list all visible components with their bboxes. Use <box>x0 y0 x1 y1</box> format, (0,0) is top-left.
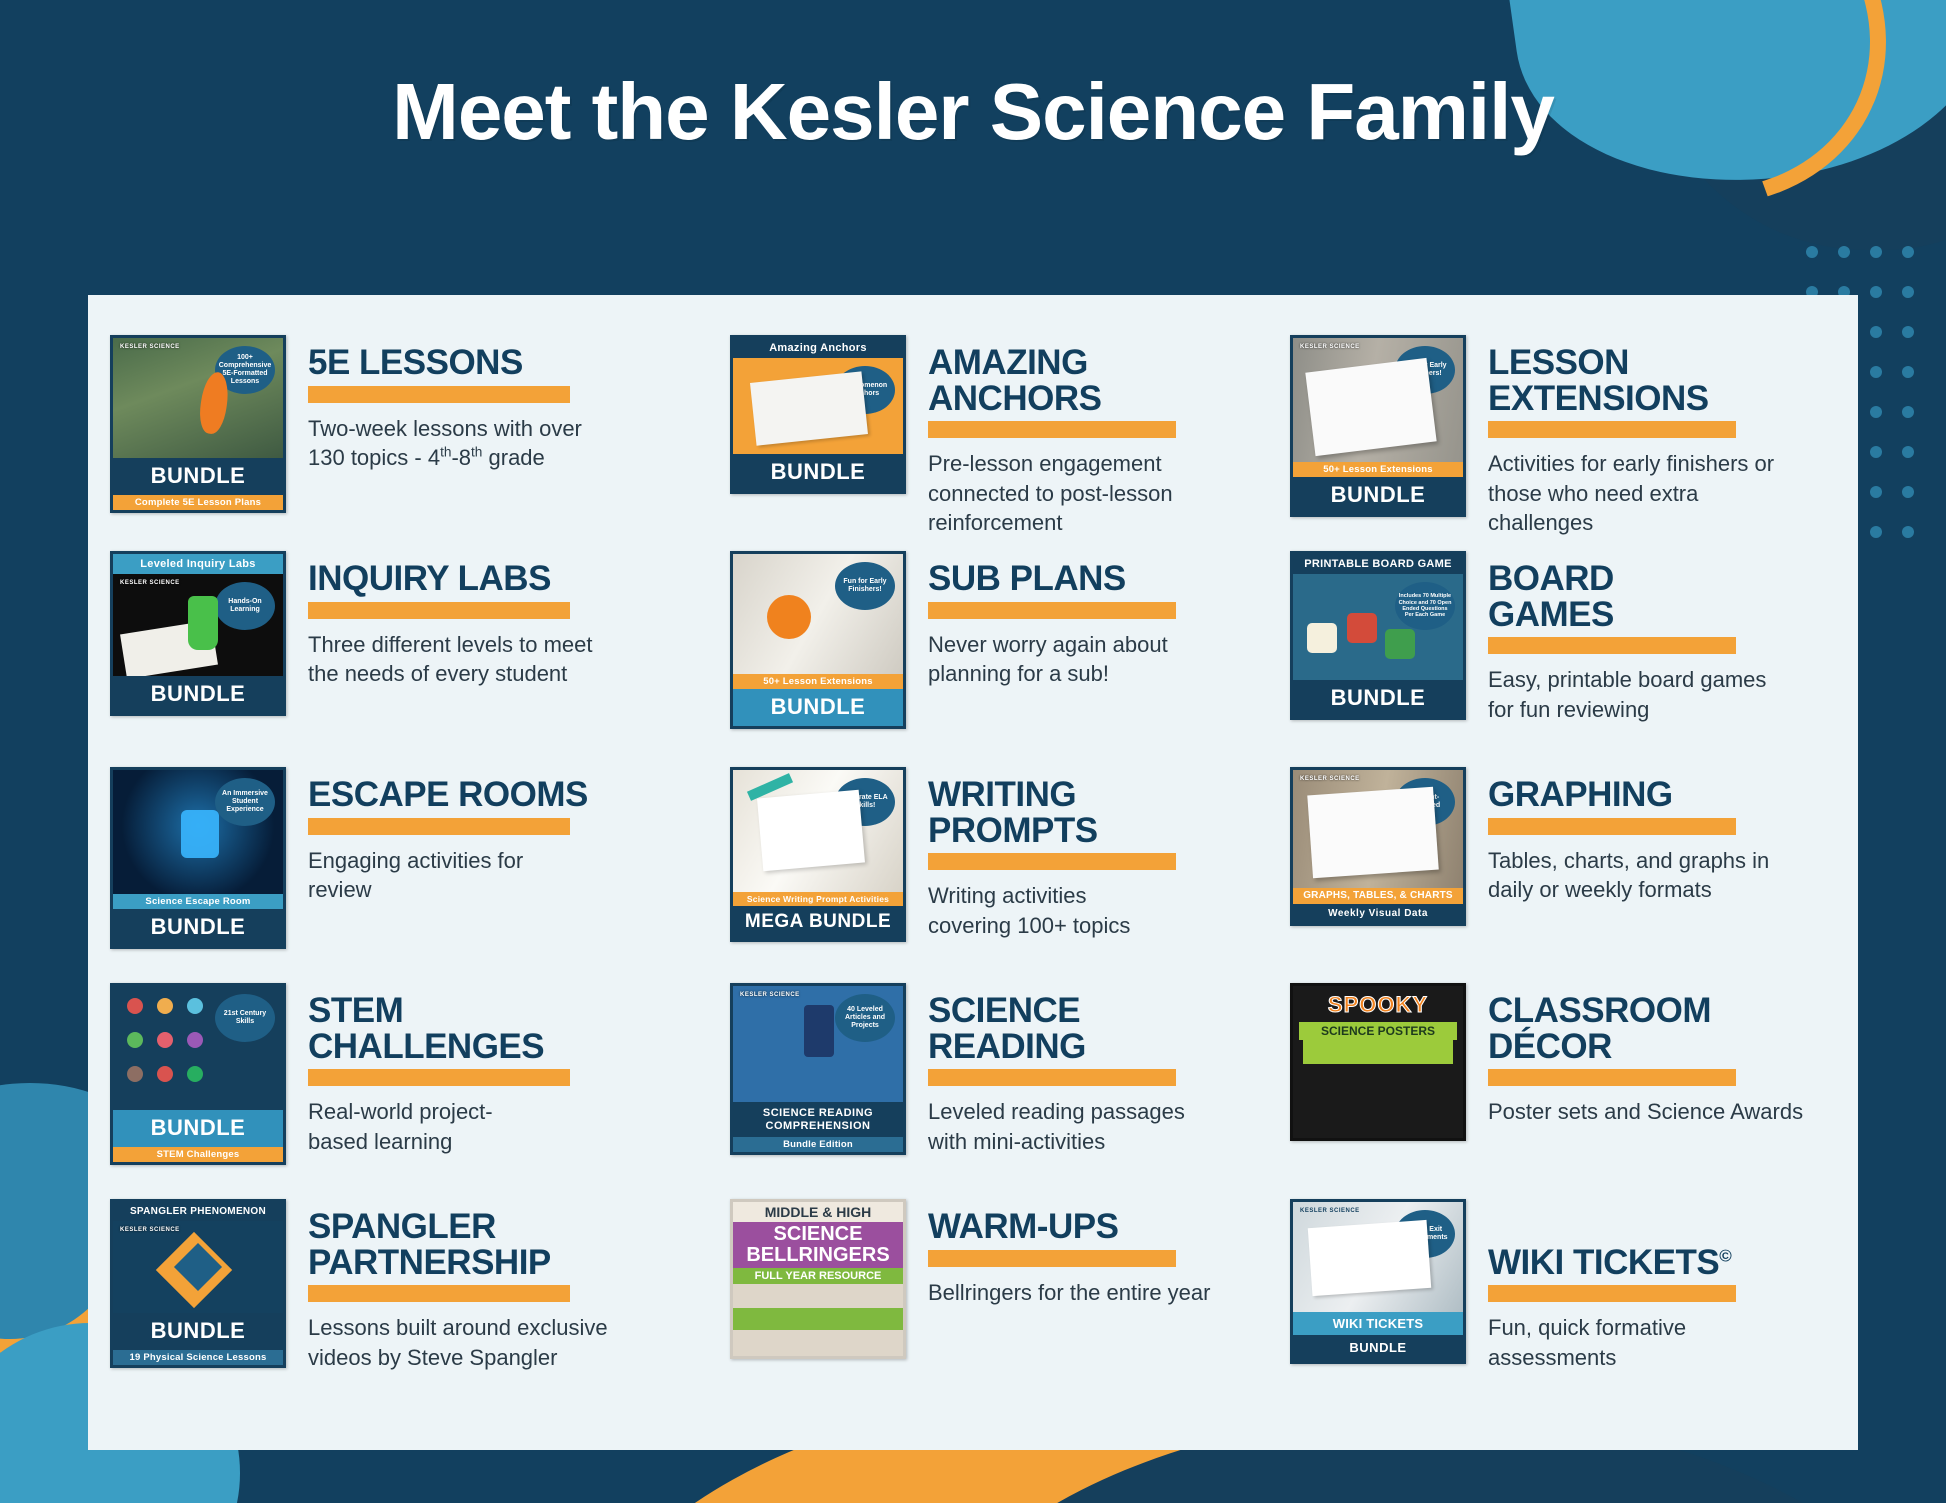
product-thumbnail[interactable]: KESLER SCIENCE 40 Leveled Articles and P… <box>730 983 906 1155</box>
kesler-science-logo-icon: KESLER SCIENCE <box>120 580 180 586</box>
product-info: LESSON EXTENSIONS Activities for early f… <box>1466 335 1850 538</box>
orange-rule <box>1488 1285 1736 1302</box>
kesler-science-logo-icon: KESLER SCIENCE <box>1300 1208 1360 1214</box>
product-card-inquiry-labs[interactable]: Leveled Inquiry Labs KESLER SCIENCE Hand… <box>110 551 730 767</box>
product-title: CLASSROOM DÉCOR <box>1488 993 1850 1064</box>
product-card-science-reading[interactable]: KESLER SCIENCE 40 Leveled Articles and P… <box>730 983 1290 1199</box>
product-description: Activities for early finishers or those … <box>1488 449 1850 537</box>
kesler-science-logo-icon: KESLER SCIENCE <box>120 1227 180 1233</box>
product-thumbnail[interactable]: SPOOKY SCIENCE POSTERS <box>1290 983 1466 1141</box>
product-card-spangler-partnership[interactable]: SPANGLER PHENOMENON KESLER SCIENCE BUNDL… <box>110 1199 730 1415</box>
bundle-label: BUNDLE <box>733 689 903 726</box>
thumbnail-strip: Science Escape Room <box>113 894 283 909</box>
bundle-label: BUNDLE <box>1293 477 1463 514</box>
thumbnail-badge: 21st Century Skills <box>215 994 275 1042</box>
product-title: SPANGLER PARTNERSHIP <box>308 1209 730 1280</box>
thumbnail-strip: SCIENCE POSTERS <box>1299 1022 1457 1040</box>
product-info: 5E LESSONS Two-week lessons with over130… <box>286 335 730 473</box>
bundle-label: BUNDLE <box>113 909 283 946</box>
bundle-label: Weekly Visual Data <box>1293 904 1463 923</box>
spooky-title: SPOOKY <box>1293 992 1463 1018</box>
product-title-text: WIKI TICKETS <box>1488 1243 1719 1282</box>
bundle-label: BUNDLE <box>113 1313 283 1350</box>
thumbnail-badge: Quick Exit Assessments <box>1395 1210 1455 1258</box>
orange-rule <box>308 602 570 619</box>
product-card-board-games[interactable]: PRINTABLE BOARD GAME Includes 70 Multipl… <box>1290 551 1850 767</box>
orange-rule <box>928 421 1176 438</box>
thumbnail-badge: Student-Centered <box>1395 778 1455 826</box>
thumbnail-strip: FULL YEAR RESOURCE <box>733 1268 903 1284</box>
product-description: Real-world project- based learning <box>308 1097 730 1156</box>
thumbnail-artwork: KESLER SCIENCE Fun for Early Finishers! <box>1293 338 1463 462</box>
orange-rule <box>928 853 1176 870</box>
thumbnail-artwork: An Immersive Student Experience <box>113 770 283 894</box>
thumbnail-artwork: Phenomenon Anchors <box>733 358 903 454</box>
thumbnail-top-label: SPANGLER PHENOMENON <box>113 1202 283 1221</box>
product-thumbnail[interactable]: KESLER SCIENCE Quick Exit Assessments WI… <box>1290 1199 1466 1364</box>
product-title: AMAZING ANCHORS <box>928 345 1290 416</box>
orange-rule <box>1488 421 1736 438</box>
thumbnail-artwork: Fun for Early Finishers! <box>733 554 903 674</box>
thumbnail-badge: Fun for Early Finishers! <box>1395 346 1455 394</box>
product-thumbnail[interactable]: MIDDLE & HIGH SCIENCE BELLRINGERS FULL Y… <box>730 1199 906 1359</box>
product-card-warm-ups[interactable]: MIDDLE & HIGH SCIENCE BELLRINGERS FULL Y… <box>730 1199 1290 1415</box>
product-info: AMAZING ANCHORS Pre-lesson engagement co… <box>906 335 1290 538</box>
thumbnail-strip: 50+ Lesson Extensions <box>1293 462 1463 477</box>
thumbnail-badge: 100+ Comprehensive 5E-Formatted Lessons <box>215 346 275 394</box>
orange-rule <box>928 602 1176 619</box>
product-thumbnail[interactable]: PRINTABLE BOARD GAME Includes 70 Multipl… <box>1290 551 1466 720</box>
orange-rule <box>308 386 570 403</box>
thumbnail-artwork <box>733 1284 903 1356</box>
kesler-science-logo-icon: KESLER SCIENCE <box>1300 344 1360 350</box>
thumbnail-top-label: Amazing Anchors <box>733 338 903 358</box>
product-title: STEM CHALLENGES <box>308 993 730 1064</box>
product-info: INQUIRY LABS Three different levels to m… <box>286 551 730 689</box>
product-title: LESSON EXTENSIONS <box>1488 345 1850 416</box>
product-description: Three different levels to meet the needs… <box>308 630 730 689</box>
orange-rule <box>928 1250 1176 1267</box>
product-info: WARM-UPS Bellringers for the entire year <box>906 1199 1290 1307</box>
thumbnail-artwork: KESLER SCIENCE Student-Centered <box>1293 770 1463 888</box>
product-card-lesson-extensions[interactable]: KESLER SCIENCE Fun for Early Finishers! … <box>1290 335 1850 551</box>
bundle-label: BUNDLE <box>1293 680 1463 717</box>
product-thumbnail[interactable]: KESLER SCIENCE 100+ Comprehensive 5E-For… <box>110 335 286 513</box>
bundle-label: BUNDLE <box>733 454 903 491</box>
bundle-label: SCIENCE BELLRINGERS <box>733 1222 903 1268</box>
thumbnail-strip: 50+ Lesson Extensions <box>733 674 903 689</box>
orange-rule <box>1488 637 1736 654</box>
product-info: SCIENCE READING Leveled reading passages… <box>906 983 1290 1156</box>
product-thumbnail[interactable]: 21st Century Skills BUNDLE STEM Challeng… <box>110 983 286 1165</box>
product-thumbnail[interactable]: SPANGLER PHENOMENON KESLER SCIENCE BUNDL… <box>110 1199 286 1368</box>
thumbnail-strip: WIKI TICKETS <box>1293 1312 1463 1335</box>
thumbnail-artwork: 21st Century Skills <box>113 986 283 1110</box>
product-panel: KESLER SCIENCE 100+ Comprehensive 5E-For… <box>88 295 1858 1450</box>
product-description: Poster sets and Science Awards <box>1488 1097 1850 1126</box>
product-description: Engaging activities for review <box>308 846 730 905</box>
product-card-escape-rooms[interactable]: An Immersive Student Experience Science … <box>110 767 730 983</box>
product-title: GRAPHING <box>1488 777 1850 813</box>
thumbnail-artwork: KESLER SCIENCE Quick Exit Assessments <box>1293 1202 1463 1312</box>
thumbnail-artwork: SPOOKY SCIENCE POSTERS <box>1293 986 1463 1138</box>
kesler-science-logo-icon: KESLER SCIENCE <box>740 992 800 998</box>
orange-rule <box>1488 1069 1736 1086</box>
thumbnail-artwork: Integrate ELA Skills! <box>733 770 903 892</box>
product-info: CLASSROOM DÉCOR Poster sets and Science … <box>1466 983 1850 1127</box>
product-card-sub-plans[interactable]: Fun for Early Finishers! 50+ Lesson Exte… <box>730 551 1290 767</box>
thumbnail-strip: Science Writing Prompt Activities <box>733 892 903 906</box>
thumbnail-badge: Fun for Early Finishers! <box>835 562 895 610</box>
product-thumbnail[interactable]: KESLER SCIENCE Student-Centered GRAPHS, … <box>1290 767 1466 926</box>
orange-rule <box>1488 818 1736 835</box>
product-card-graphing[interactable]: KESLER SCIENCE Student-Centered GRAPHS, … <box>1290 767 1850 983</box>
product-title: 5E LESSONS <box>308 345 730 381</box>
thumbnail-badge: 40 Leveled Articles and Projects <box>835 994 895 1042</box>
product-title: SUB PLANS <box>928 561 1290 597</box>
thumbnail-artwork: KESLER SCIENCE <box>113 1221 283 1313</box>
product-info: SUB PLANS Never worry again about planni… <box>906 551 1290 689</box>
orange-rule <box>308 1069 570 1086</box>
thumbnail-badge: An Immersive Student Experience <box>215 778 275 826</box>
bundle-label: SCIENCE READING COMPREHENSION <box>733 1102 903 1137</box>
product-info: GRAPHING Tables, charts, and graphs in d… <box>1466 767 1850 905</box>
product-description: Two-week lessons with over130 topics - 4… <box>308 414 730 473</box>
thumbnail-strip: Bundle Edition <box>733 1137 903 1152</box>
product-description: Never worry again about planning for a s… <box>928 630 1290 689</box>
thumbnail-strip: Complete 5E Lesson Plans <box>113 495 283 510</box>
thumbnail-artwork: KESLER SCIENCE 100+ Comprehensive 5E-For… <box>113 338 283 458</box>
product-description: Leveled reading passages with mini-activ… <box>928 1097 1290 1156</box>
product-title: SCIENCE READING <box>928 993 1290 1064</box>
thumbnail-badge: Hands-On Learning <box>215 582 275 630</box>
thumbnail-strip: STEM Challenges <box>113 1147 283 1162</box>
thumbnail-artwork: KESLER SCIENCE 40 Leveled Articles and P… <box>733 986 903 1102</box>
product-title: WIKI TICKETS© <box>1488 1209 1850 1280</box>
product-card-writing-prompts[interactable]: Integrate ELA Skills! Science Writing Pr… <box>730 767 1290 983</box>
product-thumbnail[interactable]: Amazing Anchors Phenomenon Anchors BUNDL… <box>730 335 906 494</box>
thumbnail-strip: 19 Physical Science Lessons <box>113 1350 283 1365</box>
thumbnail-artwork: KESLER SCIENCE Hands-On Learning <box>113 574 283 676</box>
product-info: ESCAPE ROOMS Engaging activities for rev… <box>286 767 730 905</box>
bundle-label: BUNDLE <box>113 676 283 713</box>
product-thumbnail[interactable]: KESLER SCIENCE Fun for Early Finishers! … <box>1290 335 1466 517</box>
product-description: Easy, printable board games for fun revi… <box>1488 665 1850 724</box>
product-card-classroom-decor[interactable]: SPOOKY SCIENCE POSTERS CLASSROOM DÉCOR P… <box>1290 983 1850 1199</box>
product-thumbnail[interactable]: Integrate ELA Skills! Science Writing Pr… <box>730 767 906 942</box>
product-grid: KESLER SCIENCE 100+ Comprehensive 5E-For… <box>110 335 1828 1415</box>
product-card-wiki-tickets[interactable]: KESLER SCIENCE Quick Exit Assessments WI… <box>1290 1199 1850 1415</box>
product-description: Pre-lesson engagement connected to post-… <box>928 449 1290 537</box>
thumbnail-top-label: Leveled Inquiry Labs <box>113 554 283 574</box>
product-description: Fun, quick formative assessments <box>1488 1313 1850 1372</box>
bundle-label: MEGA BUNDLE <box>733 906 903 939</box>
thumbnail-top-label: PRINTABLE BOARD GAME <box>1293 554 1463 574</box>
thumbnail-badge: Includes 70 Multiple Choice and 70 Open … <box>1395 582 1455 630</box>
product-thumbnail[interactable]: An Immersive Student Experience Science … <box>110 767 286 949</box>
product-title: WRITING PROMPTS <box>928 777 1290 848</box>
product-card-stem-challenges[interactable]: 21st Century Skills BUNDLE STEM Challeng… <box>110 983 730 1199</box>
orange-rule <box>308 1285 570 1302</box>
product-info: WRITING PROMPTS Writing activities cover… <box>906 767 1290 940</box>
kesler-science-logo-icon: KESLER SCIENCE <box>1300 776 1360 782</box>
product-description: Bellringers for the entire year <box>928 1278 1290 1307</box>
product-info: BOARD GAMES Easy, printable board games … <box>1466 551 1850 724</box>
product-thumbnail[interactable]: Leveled Inquiry Labs KESLER SCIENCE Hand… <box>110 551 286 716</box>
product-info: WIKI TICKETS© Fun, quick formative asses… <box>1466 1199 1850 1372</box>
product-description: Tables, charts, and graphs in daily or w… <box>1488 846 1850 905</box>
product-title: WARM-UPS <box>928 1209 1290 1245</box>
thumbnail-artwork: Includes 70 Multiple Choice and 70 Open … <box>1293 574 1463 680</box>
thumbnail-strip: GRAPHS, TABLES, & CHARTS <box>1293 888 1463 904</box>
product-description: Lessons built around exclusive videos by… <box>308 1313 730 1372</box>
product-title: BOARD GAMES <box>1488 561 1850 632</box>
thumbnail-top-label: MIDDLE & HIGH <box>733 1202 903 1222</box>
orange-rule <box>308 818 570 835</box>
product-card-amazing-anchors[interactable]: Amazing Anchors Phenomenon Anchors BUNDL… <box>730 335 1290 551</box>
product-title: ESCAPE ROOMS <box>308 777 730 813</box>
thumbnail-badge: Integrate ELA Skills! <box>835 778 895 826</box>
bundle-label: BUNDLE <box>113 458 283 495</box>
product-card-5e-lessons[interactable]: KESLER SCIENCE 100+ Comprehensive 5E-For… <box>110 335 730 551</box>
product-title: INQUIRY LABS <box>308 561 730 597</box>
product-info: SPANGLER PARTNERSHIP Lessons built aroun… <box>286 1199 730 1372</box>
bundle-label: BUNDLE <box>113 1110 283 1147</box>
kesler-science-logo-icon: KESLER SCIENCE <box>120 344 180 350</box>
product-description: Writing activities covering 100+ topics <box>928 881 1290 940</box>
bundle-label: BUNDLE <box>1293 1335 1463 1361</box>
product-info: STEM CHALLENGES Real-world project- base… <box>286 983 730 1156</box>
thumbnail-badge: Phenomenon Anchors <box>835 366 895 414</box>
product-thumbnail[interactable]: Fun for Early Finishers! 50+ Lesson Exte… <box>730 551 906 729</box>
page-title: Meet the Kesler Science Family <box>0 66 1946 158</box>
copyright-symbol: © <box>1719 1246 1731 1265</box>
orange-rule <box>928 1069 1176 1086</box>
